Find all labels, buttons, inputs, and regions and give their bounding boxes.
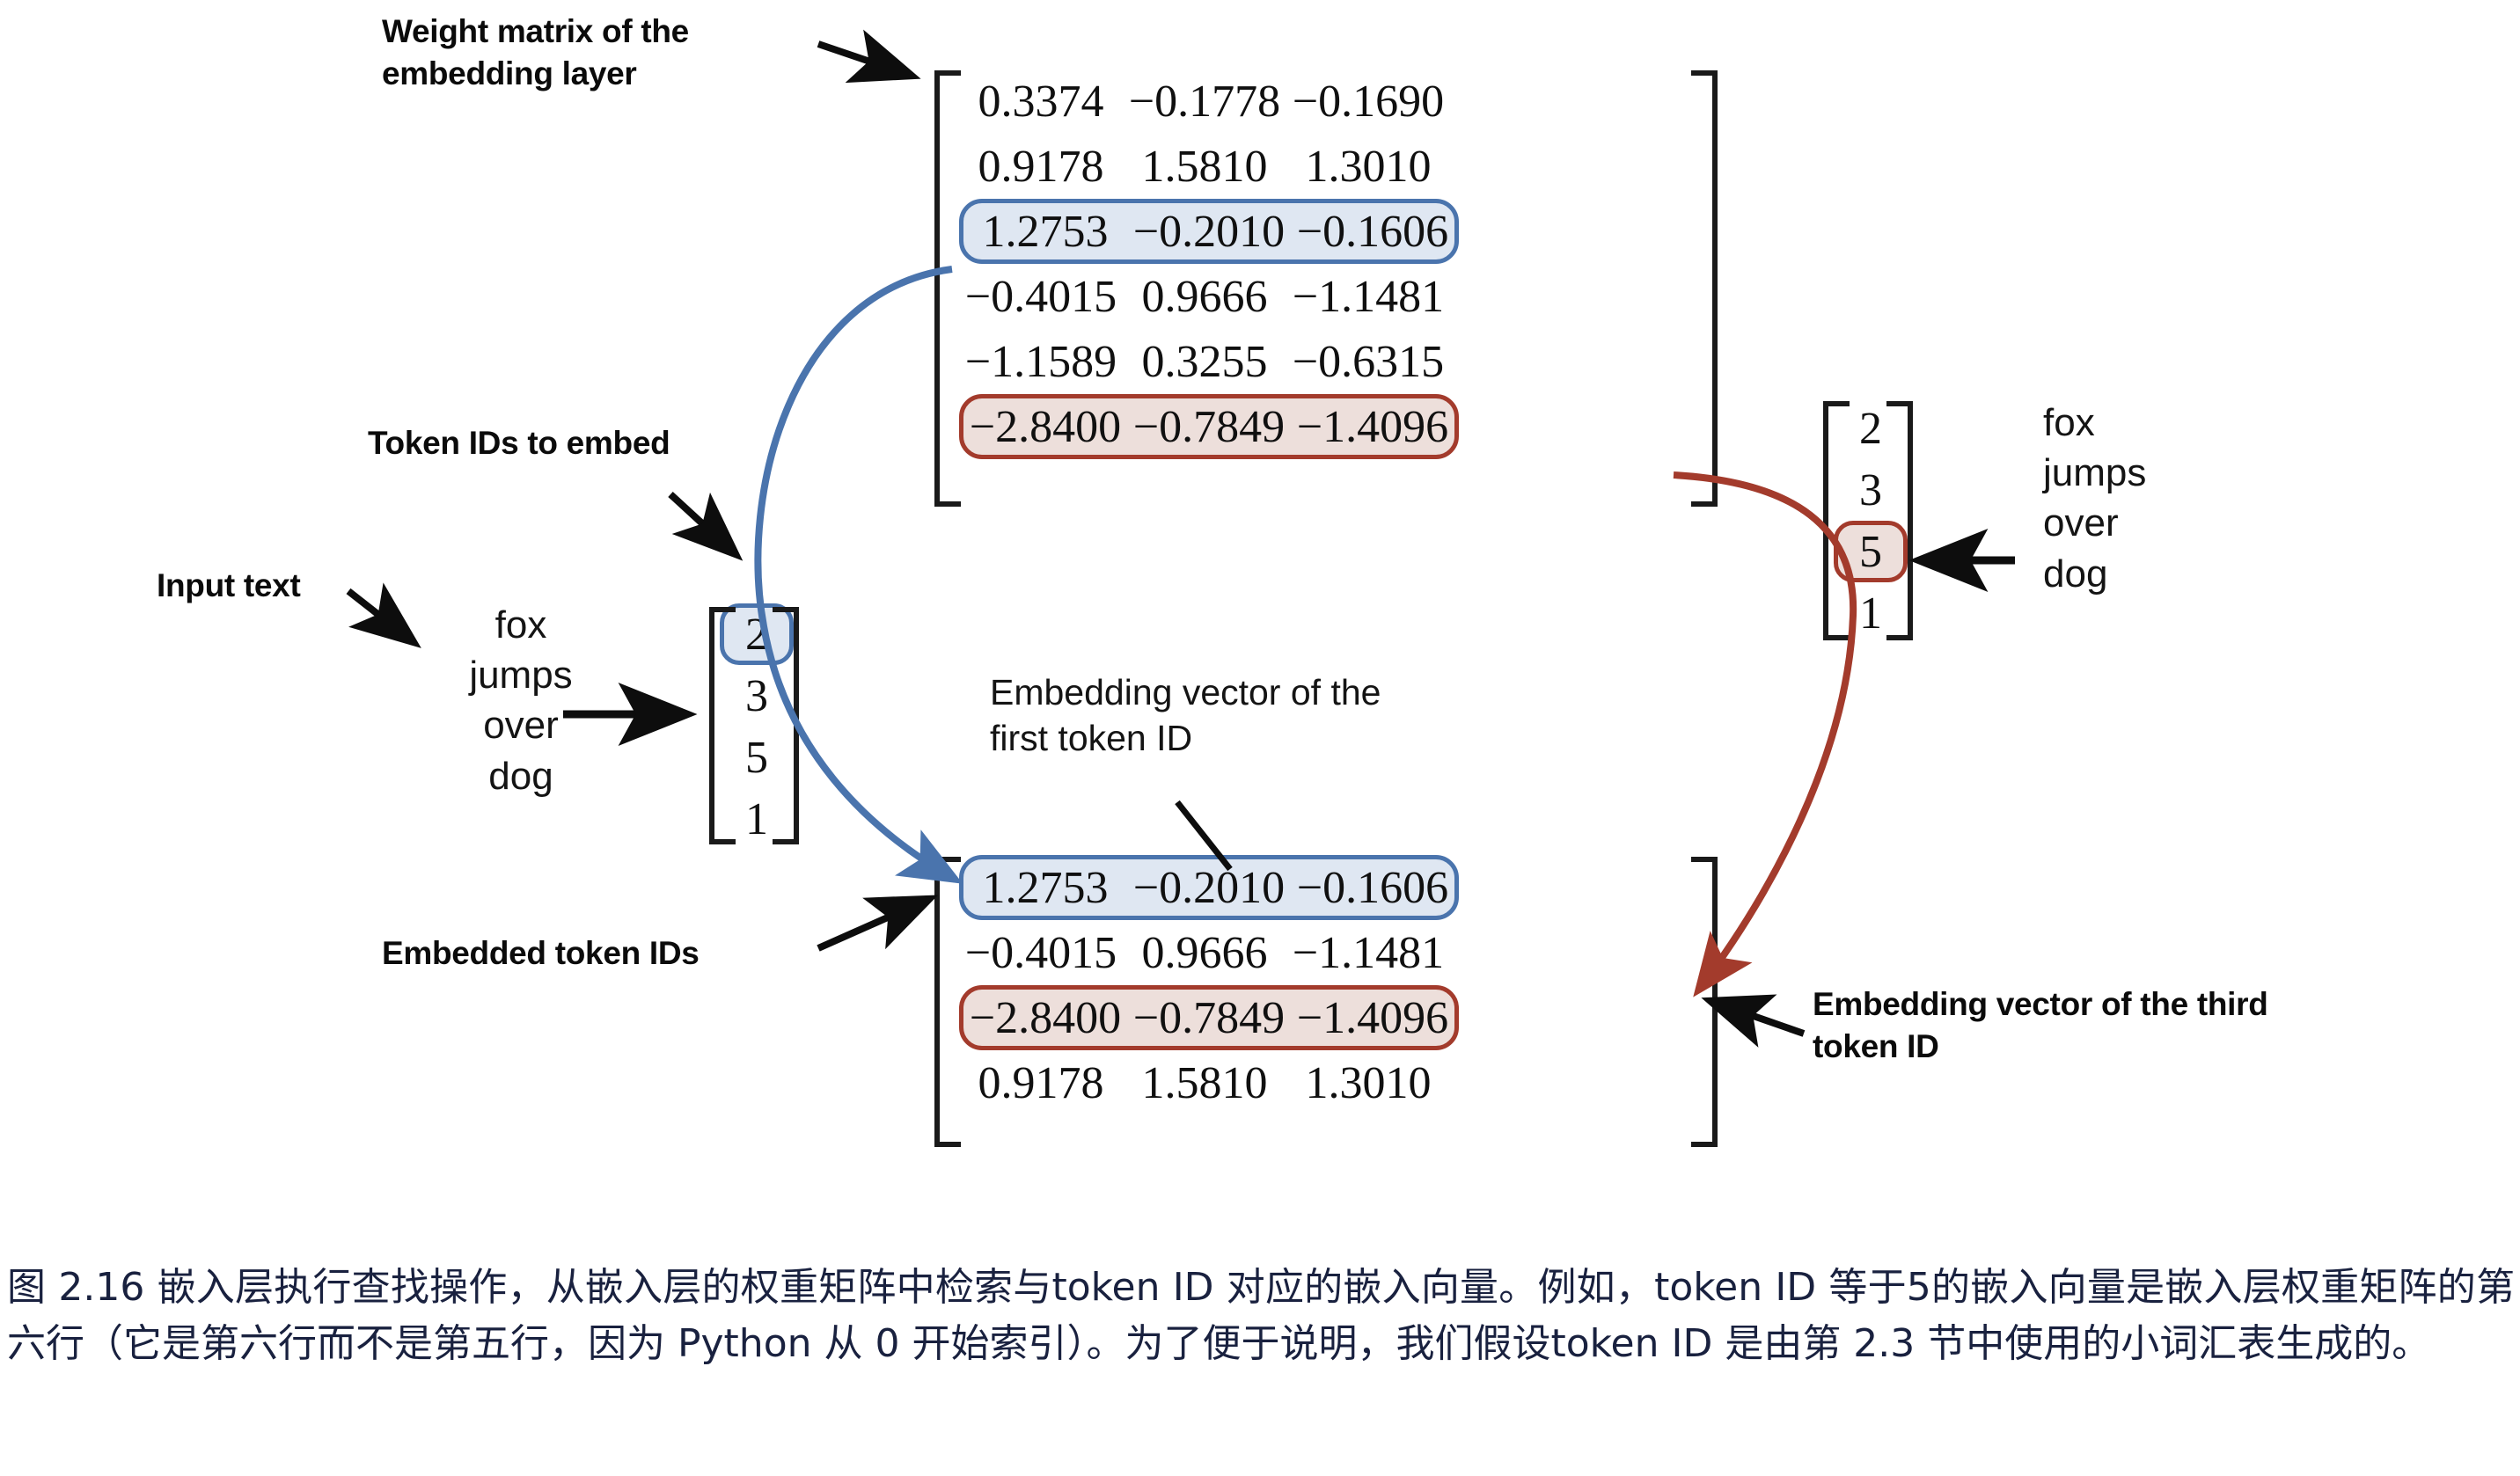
arrow-token-ids-to-embed — [670, 494, 736, 554]
curve-red-lookup — [1674, 475, 1853, 990]
arrow-input-text — [348, 591, 414, 642]
curve-blue-lookup — [758, 269, 956, 880]
connector-overlay — [0, 0, 2520, 1231]
arrow-embedded-token-ids — [818, 899, 929, 948]
arrow-weight-matrix-label — [818, 44, 912, 76]
leader-embedding-vector-first — [1177, 802, 1230, 869]
embedding-lookup-diagram: Weight matrix of the embedding layer Tok… — [0, 0, 2520, 1231]
figure-caption: 图 2.16 嵌入层执行查找操作，从嵌入层的权重矩阵中检索与token ID 对… — [7, 1260, 2515, 1372]
arrow-embedding-vector-third — [1711, 1001, 1804, 1034]
